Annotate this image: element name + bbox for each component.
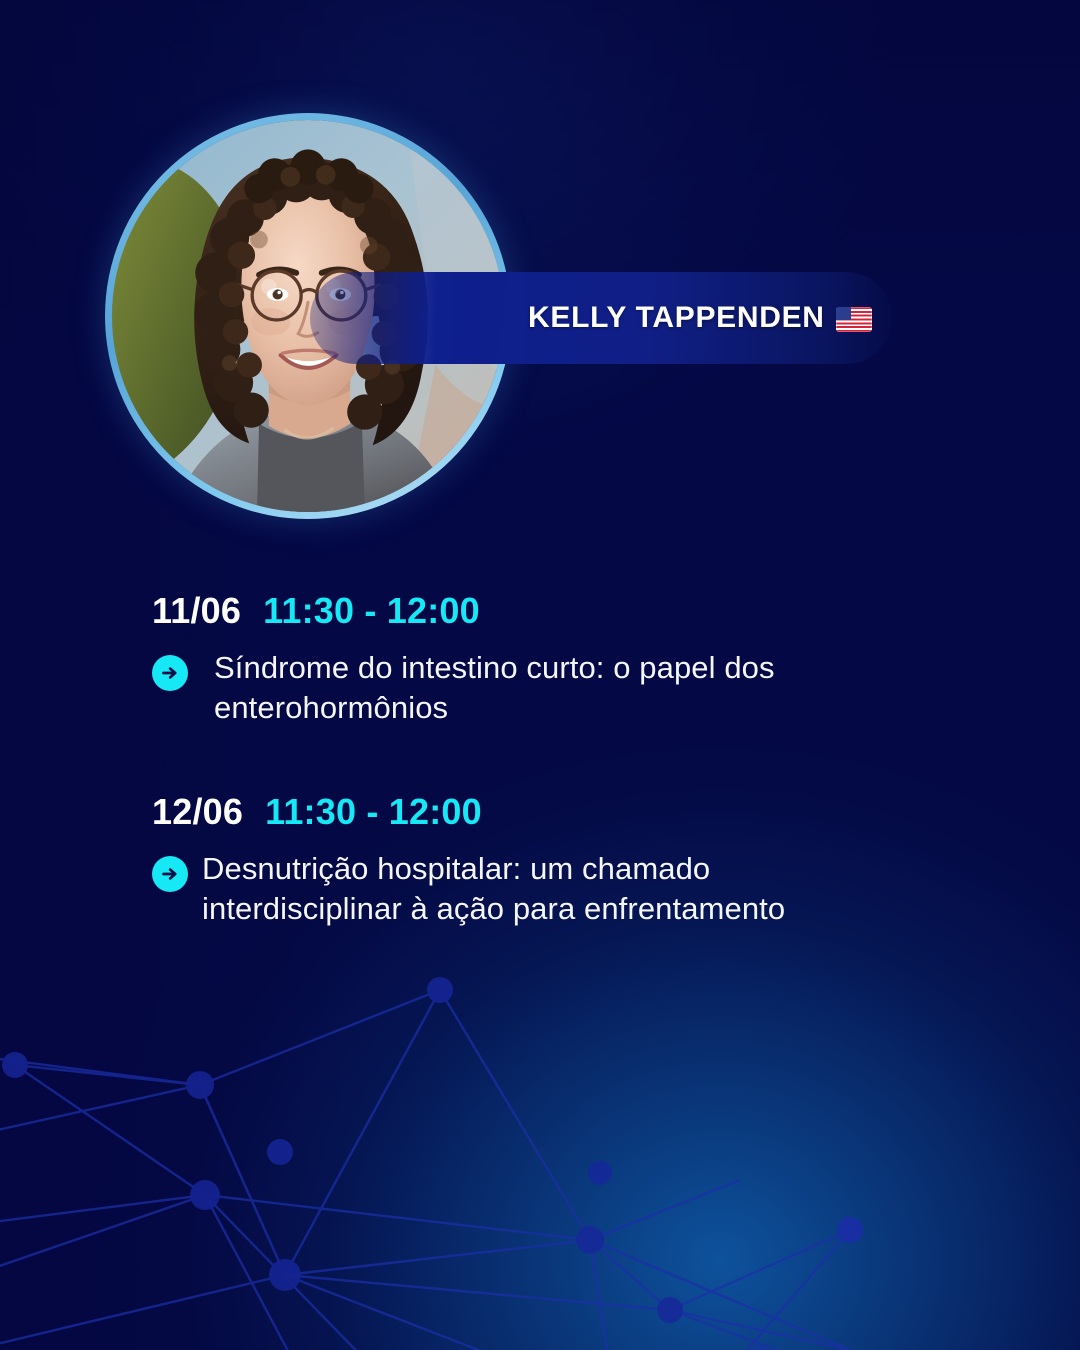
arrow-right-icon <box>152 655 188 691</box>
session-date: 12/06 <box>152 791 243 833</box>
session-body: Desnutrição hospitalar: um chamado inter… <box>152 849 992 930</box>
network-pattern-decoration <box>0 930 870 1350</box>
arrow-right-icon <box>152 856 188 892</box>
session-header: 12/06 11:30 - 12:00 <box>152 791 992 833</box>
session-item: 11/06 11:30 - 12:00 Síndrome do intestin… <box>152 590 992 729</box>
speaker-poster: KELLY TAPPENDEN <box>0 0 1080 1350</box>
session-body: Síndrome do intestino curto: o papel dos… <box>152 648 992 729</box>
speaker-name-badge: KELLY TAPPENDEN <box>310 272 892 364</box>
session-item: 12/06 11:30 - 12:00 Desnutrição hospital… <box>152 791 992 930</box>
speaker-name-label: KELLY TAPPENDEN <box>528 301 825 335</box>
session-title: Síndrome do intestino curto: o papel dos… <box>202 648 892 729</box>
session-time: 11:30 - 12:00 <box>263 590 480 632</box>
session-schedule: 11/06 11:30 - 12:00 Síndrome do intestin… <box>152 590 992 929</box>
session-time: 11:30 - 12:00 <box>265 791 482 833</box>
session-title: Desnutrição hospitalar: um chamado inter… <box>202 849 892 930</box>
speaker-name-text: KELLY TAPPENDEN <box>528 301 872 335</box>
united-states-flag-icon <box>836 304 872 331</box>
session-header: 11/06 11:30 - 12:00 <box>152 590 992 632</box>
session-date: 11/06 <box>152 590 241 632</box>
